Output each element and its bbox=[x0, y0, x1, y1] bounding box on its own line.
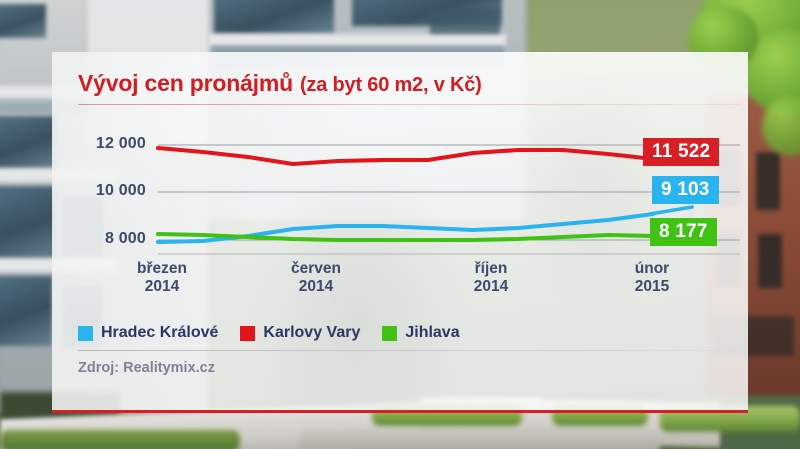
background-window bbox=[0, 4, 46, 38]
y-axis-tick-12000: 12 000 bbox=[54, 135, 146, 153]
x-tick-month: únor bbox=[592, 260, 712, 278]
x-tick-year: 2014 bbox=[102, 278, 222, 296]
chart-plot-area bbox=[52, 52, 748, 413]
legend-item-jihlava[interactable]: Jihlava bbox=[382, 324, 459, 342]
x-axis-tick-rijen-2014: říjen 2014 bbox=[431, 260, 551, 297]
x-tick-year: 2015 bbox=[592, 278, 712, 296]
infographic-panel: Vývoj cen pronájmů(za byt 60 m2, v Kč) bbox=[52, 52, 748, 413]
chart-legend: Hradec Králové Karlovy Vary Jihlava bbox=[78, 324, 460, 342]
x-tick-year: 2014 bbox=[431, 278, 551, 296]
screenshot-stage: Vývoj cen pronájmů(za byt 60 m2, v Kč) bbox=[0, 0, 800, 449]
x-axis-tick-unor-2015: únor 2015 bbox=[592, 260, 712, 297]
background-path bbox=[300, 430, 660, 449]
legend-divider bbox=[78, 350, 740, 351]
background-window bbox=[430, 8, 500, 34]
x-axis-tick-cerven-2014: červen 2014 bbox=[256, 260, 376, 297]
x-axis-tick-brezen-2014: březen 2014 bbox=[102, 260, 222, 297]
value-badge-karlovy-vary: 11 522 bbox=[643, 138, 719, 166]
x-tick-month: březen bbox=[102, 260, 222, 278]
background-hedge bbox=[0, 430, 240, 449]
source-credit: Zdroj: Realitymix.cz bbox=[78, 360, 215, 376]
background-slab bbox=[206, 34, 506, 46]
value-badge-hradec-kralove: 9 103 bbox=[652, 176, 719, 204]
y-axis-tick-8000: 8 000 bbox=[54, 230, 146, 248]
x-tick-month: červen bbox=[256, 260, 376, 278]
legend-item-karlovy-vary[interactable]: Karlovy Vary bbox=[240, 324, 360, 342]
legend-swatch-icon bbox=[78, 326, 93, 341]
value-badge-jihlava: 8 177 bbox=[650, 218, 717, 246]
background-window bbox=[756, 152, 780, 210]
background-window bbox=[758, 234, 782, 288]
series-line-karlovy-vary bbox=[158, 148, 653, 164]
background-window bbox=[0, 116, 56, 170]
legend-label: Karlovy Vary bbox=[263, 324, 360, 342]
y-axis-tick-10000: 10 000 bbox=[54, 182, 146, 200]
background-window bbox=[0, 186, 56, 260]
x-tick-year: 2014 bbox=[256, 278, 376, 296]
legend-label: Jihlava bbox=[405, 324, 459, 342]
line-chart: 12 000 10 000 8 000 březen 2014 červen 2… bbox=[52, 52, 748, 413]
background-window bbox=[0, 276, 52, 346]
legend-label: Hradec Králové bbox=[101, 324, 218, 342]
background-window bbox=[214, 0, 334, 34]
legend-swatch-icon bbox=[382, 326, 397, 341]
x-tick-month: říjen bbox=[431, 260, 551, 278]
legend-item-hradec-kralove[interactable]: Hradec Králové bbox=[78, 324, 218, 342]
legend-swatch-icon bbox=[240, 326, 255, 341]
